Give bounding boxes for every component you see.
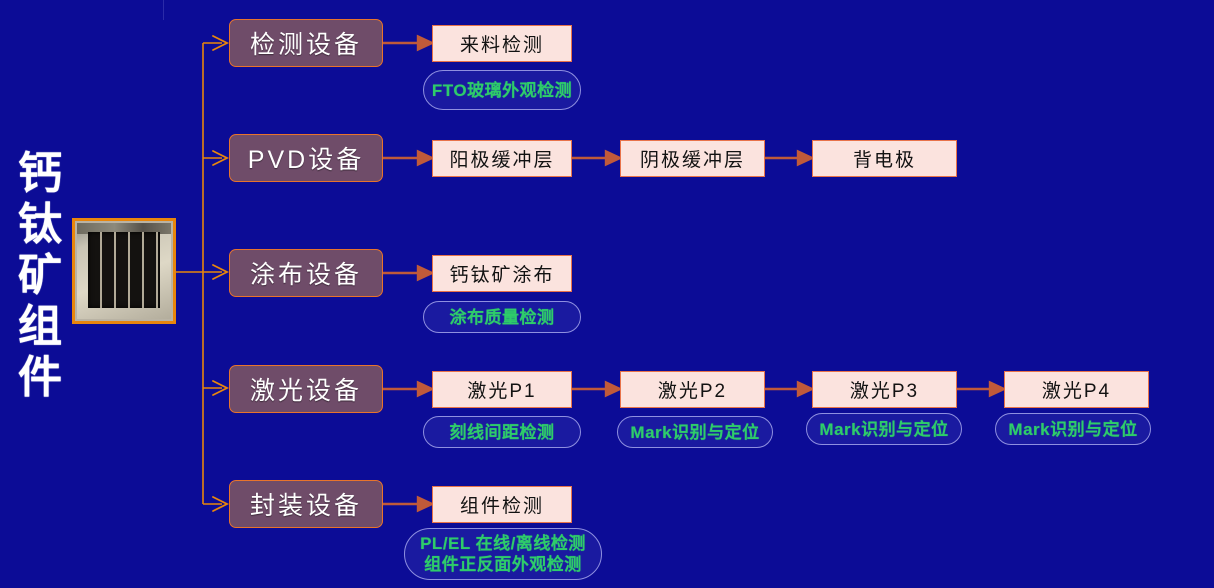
process-label: 阳极缓冲层 bbox=[449, 145, 554, 172]
process-label: 组件检测 bbox=[460, 491, 544, 518]
inspection-pill-line: PL/EL 在线/离线检测 bbox=[420, 533, 586, 554]
inspection-pill-line: Mark识别与定位 bbox=[1008, 419, 1137, 440]
background-artifact-line bbox=[163, 0, 164, 20]
page-title-char-3: 矿 bbox=[8, 250, 72, 301]
process-label: 阴极缓冲层 bbox=[640, 145, 745, 172]
process-box-laser-p4[interactable]: 激光P4 bbox=[1004, 371, 1149, 408]
inspection-pill-line: 组件正反面外观检测 bbox=[424, 554, 582, 575]
process-box-module-inspection[interactable]: 组件检测 bbox=[432, 486, 572, 523]
inspection-pill-line: FTO玻璃外观检测 bbox=[432, 80, 572, 101]
process-label: 钙钛矿涂布 bbox=[449, 260, 554, 287]
equipment-box-encapsulation[interactable]: 封装设备 bbox=[229, 480, 383, 528]
process-box-laser-p3[interactable]: 激光P3 bbox=[812, 371, 957, 408]
process-label: 激光P2 bbox=[658, 376, 727, 403]
inspection-pill-line: Mark识别与定位 bbox=[630, 422, 759, 443]
process-box-incoming-inspection[interactable]: 来料检测 bbox=[432, 25, 572, 62]
equipment-box-inspection[interactable]: 检测设备 bbox=[229, 19, 383, 67]
equipment-label: 封装设备 bbox=[250, 486, 362, 522]
page-title-char-4: 组 bbox=[8, 301, 72, 352]
inspection-pill-pl-el[interactable]: PL/EL 在线/离线检测 组件正反面外观检测 bbox=[404, 528, 602, 580]
page-title-char-2: 钛 bbox=[8, 199, 72, 250]
inspection-pill-scribe-pitch[interactable]: 刻线间距检测 bbox=[423, 416, 581, 448]
perovskite-module-photo bbox=[72, 218, 176, 324]
equipment-label: 涂布设备 bbox=[250, 255, 362, 291]
process-label: 激光P1 bbox=[467, 376, 536, 403]
inspection-pill-mark-p2[interactable]: Mark识别与定位 bbox=[617, 416, 773, 448]
equipment-box-laser[interactable]: 激光设备 bbox=[229, 365, 383, 413]
process-label: 激光P4 bbox=[1042, 376, 1111, 403]
page-title-char-1: 钙 bbox=[8, 148, 72, 199]
equipment-label: PVD设备 bbox=[248, 140, 364, 176]
process-box-laser-p1[interactable]: 激光P1 bbox=[432, 371, 572, 408]
process-label: 来料检测 bbox=[460, 30, 544, 57]
process-box-back-electrode[interactable]: 背电极 bbox=[812, 140, 957, 177]
page-title-char-5: 件 bbox=[8, 352, 72, 403]
process-box-anode-buffer[interactable]: 阳极缓冲层 bbox=[432, 140, 572, 177]
equipment-label: 激光设备 bbox=[250, 371, 362, 407]
inspection-pill-line: 涂布质量检测 bbox=[450, 307, 555, 328]
inspection-pill-mark-p4[interactable]: Mark识别与定位 bbox=[995, 413, 1151, 445]
process-box-laser-p2[interactable]: 激光P2 bbox=[620, 371, 765, 408]
process-box-cathode-buffer[interactable]: 阴极缓冲层 bbox=[620, 140, 765, 177]
inspection-pill-fto-glass[interactable]: FTO玻璃外观检测 bbox=[423, 70, 581, 110]
process-flow-diagram: 钙 钛 矿 组 件 bbox=[0, 0, 1214, 588]
equipment-label: 检测设备 bbox=[250, 25, 362, 61]
inspection-pill-line: 刻线间距检测 bbox=[450, 422, 555, 443]
inspection-pill-coating-quality[interactable]: 涂布质量检测 bbox=[423, 301, 581, 333]
module-active-area bbox=[88, 232, 161, 308]
process-label: 背电极 bbox=[853, 145, 916, 172]
inspection-pill-mark-p3[interactable]: Mark识别与定位 bbox=[806, 413, 962, 445]
module-scribe-lines bbox=[88, 232, 161, 308]
process-box-perovskite-coating[interactable]: 钙钛矿涂布 bbox=[432, 255, 572, 292]
inspection-pill-line: Mark识别与定位 bbox=[819, 419, 948, 440]
page-title: 钙 钛 矿 组 件 bbox=[8, 148, 72, 403]
process-label: 激光P3 bbox=[850, 376, 919, 403]
equipment-box-pvd[interactable]: PVD设备 bbox=[229, 134, 383, 182]
equipment-box-coating[interactable]: 涂布设备 bbox=[229, 249, 383, 297]
connector-lines bbox=[0, 0, 1214, 588]
